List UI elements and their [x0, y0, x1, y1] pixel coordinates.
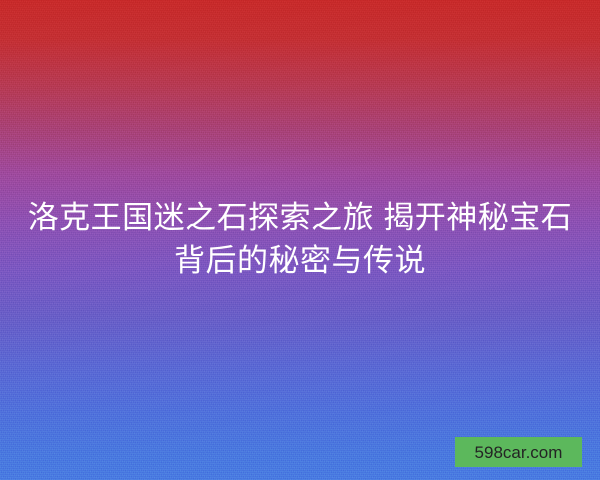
gradient-background	[0, 0, 600, 480]
banner-image: 洛克王国迷之石探索之旅 揭开神秘宝石 背后的秘密与传说 598car.com	[0, 0, 600, 480]
watermark-badge: 598car.com	[455, 437, 582, 467]
watermark-label: 598car.com	[475, 444, 563, 461]
